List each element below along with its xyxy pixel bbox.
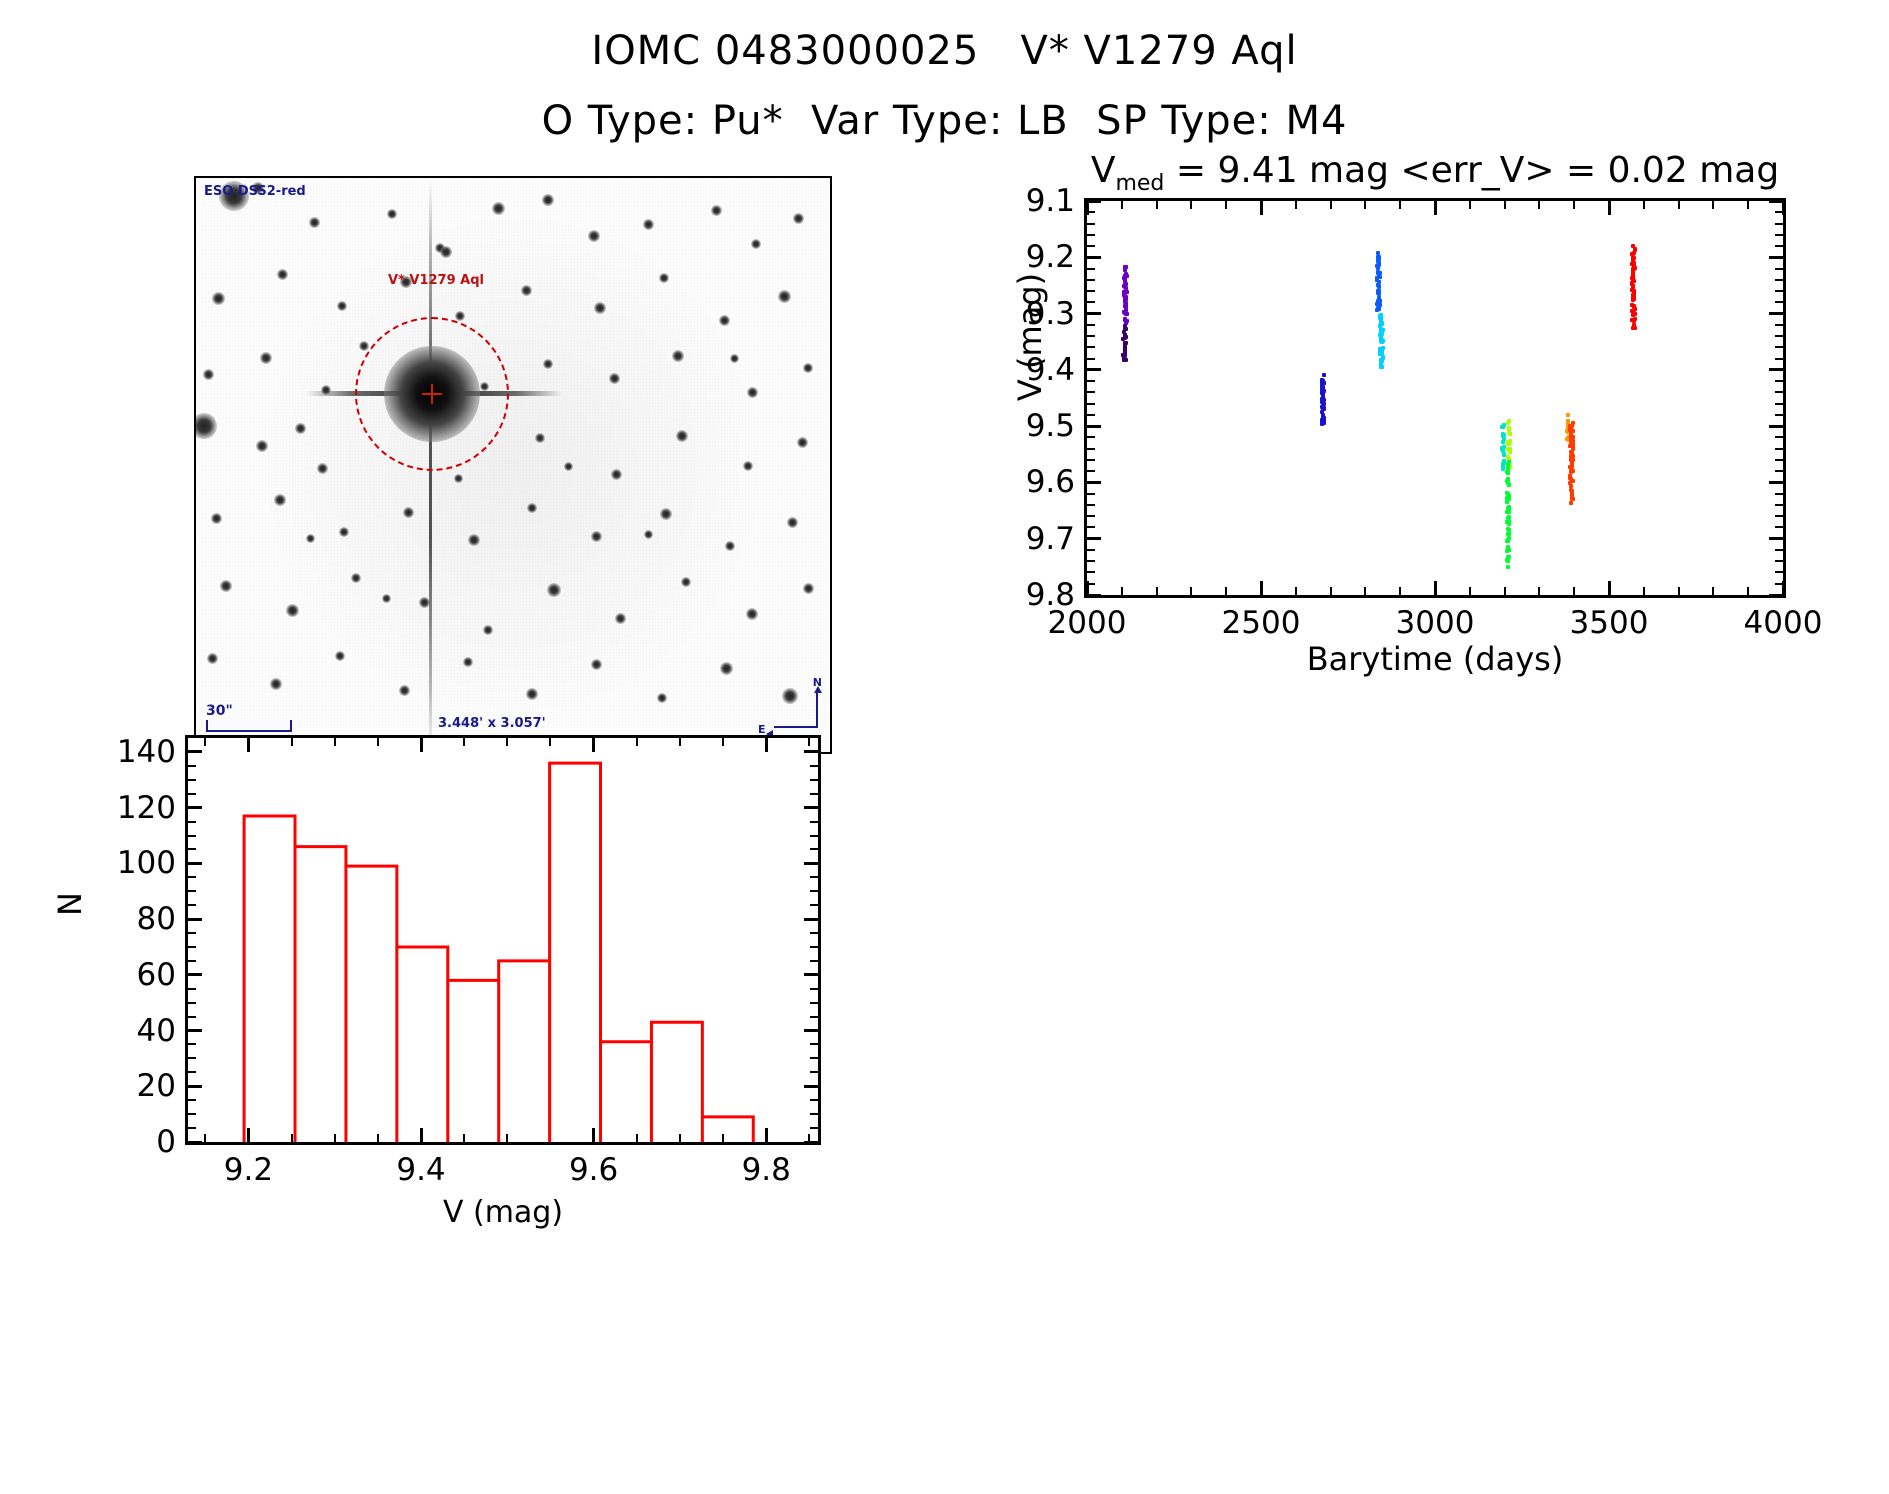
- lightcurve-x-tick-minor-top: [1434, 201, 1436, 209]
- lightcurve-y-tick-minor: [1087, 380, 1095, 382]
- field-star: [793, 213, 804, 224]
- field-star: [203, 369, 214, 380]
- lightcurve-data-point: [1506, 539, 1510, 543]
- field-star: [492, 202, 505, 215]
- field-star: [483, 625, 493, 635]
- field-star: [212, 292, 225, 305]
- lightcurve-y-tick-minor: [1087, 324, 1095, 326]
- field-star: [803, 363, 813, 373]
- lightcurve-x-tick-minor-top: [1678, 201, 1680, 209]
- lightcurve-data-point: [1378, 352, 1382, 356]
- lightcurve-y-tick-minor: [1087, 526, 1095, 528]
- lightcurve-data-point: [1506, 527, 1510, 531]
- lightcurve-x-tick-label: 2000: [1048, 605, 1127, 641]
- histogram-panel: 0204060801001201409.29.49.69.8 N V (mag): [40, 700, 860, 1490]
- lightcurve-x-tick-minor: [1190, 587, 1192, 595]
- lightcurve-x-tick-minor: [1608, 587, 1610, 595]
- field-star: [711, 205, 722, 216]
- lightcurve-x-tick-minor: [1469, 587, 1471, 595]
- lightcurve-data-point: [1501, 467, 1505, 471]
- field-star: [730, 354, 739, 363]
- lightcurve-y-tick-minor: [1087, 414, 1095, 416]
- lightcurve-data-point: [1506, 471, 1510, 475]
- lightcurve-y-tick-minor-right: [1775, 313, 1783, 315]
- field-star: [591, 531, 602, 542]
- lightcurve-data-point: [1505, 500, 1509, 504]
- histogram-x-tick-label: 9.4: [396, 1152, 445, 1188]
- lightcurve-y-tick-minor: [1087, 358, 1095, 360]
- lightcurve-data-point: [1631, 313, 1635, 317]
- lightcurve-y-tick-minor-right: [1775, 380, 1783, 382]
- field-star: [547, 583, 561, 597]
- lightcurve-data-point: [1631, 267, 1635, 271]
- lightcurve-y-tick-minor: [1087, 448, 1095, 450]
- lightcurve-x-tick-minor-top: [1643, 201, 1645, 209]
- lightcurve-data-point: [1507, 483, 1511, 487]
- lightcurve-y-tick-minor-right: [1775, 571, 1783, 573]
- lightcurve-x-tick-minor-top: [1156, 201, 1158, 209]
- lightcurve-y-tick-minor: [1087, 504, 1095, 506]
- lightcurve-y-tick-minor-right: [1775, 414, 1783, 416]
- lightcurve-x-tick-minor-top: [1538, 201, 1540, 209]
- lightcurve-x-tick-minor: [1538, 587, 1540, 595]
- sky-background-noise: [196, 178, 830, 752]
- lightcurve-x-tick-minor: [1573, 587, 1575, 595]
- field-star: [468, 534, 480, 546]
- lightcurve-y-tick-minor: [1087, 493, 1095, 495]
- lightcurve-y-tick-minor: [1087, 301, 1095, 303]
- lightcurve-y-tick-minor: [1087, 538, 1095, 540]
- lightcurve-y-tick-minor-right: [1775, 526, 1783, 528]
- field-star: [660, 508, 672, 520]
- field-star: [611, 469, 622, 480]
- histogram-x-tick-label: 9.2: [224, 1152, 273, 1188]
- lightcurve-y-tick-minor: [1087, 369, 1095, 371]
- field-star: [277, 269, 288, 280]
- field-star: [256, 440, 268, 452]
- lightcurve-y-tick-minor: [1087, 391, 1095, 393]
- field-star: [564, 462, 573, 471]
- lightcurve-x-tick-minor-top: [1225, 201, 1227, 209]
- histogram-x-axis-label: V (mag): [185, 1195, 821, 1230]
- field-star: [719, 315, 730, 326]
- vmed-symbol: V: [1091, 150, 1116, 191]
- field-star: [797, 437, 808, 448]
- lightcurve-data-point: [1322, 373, 1326, 377]
- lightcurve-data-point: [1570, 479, 1574, 483]
- lightcurve-data-point: [1507, 522, 1511, 526]
- lightcurve-data-point: [1320, 422, 1324, 426]
- lightcurve-x-tick-minor: [1156, 587, 1158, 595]
- histogram-plot-area: 0204060801001201409.29.49.69.8: [185, 735, 821, 1145]
- lightcurve-x-tick-minor-top: [1747, 201, 1749, 209]
- lightcurve-x-axis-label: Barytime (days): [1084, 640, 1786, 678]
- page-header: IOMC 0483000025 V* V1279 Aql O Type: Pu*…: [0, 0, 1889, 144]
- lightcurve-x-tick-minor-top: [1504, 201, 1506, 209]
- histogram-y-tick-label: 100: [117, 845, 176, 881]
- lightcurve-data-point: [1124, 312, 1128, 316]
- lightcurve-y-tick-minor-right: [1775, 279, 1783, 281]
- lightcurve-data-point: [1508, 432, 1512, 436]
- lightcurve-y-tick-minor: [1087, 481, 1095, 483]
- field-star: [337, 301, 347, 311]
- lightcurve-x-tick-label: 3000: [1396, 605, 1475, 641]
- lightcurve-x-tick-label: 2500: [1222, 605, 1301, 641]
- lightcurve-y-tick-minor: [1087, 346, 1095, 348]
- field-star: [399, 685, 410, 696]
- histogram-y-tick-label: 20: [137, 1068, 176, 1104]
- lightcurve-y-tick-label: 9.7: [1026, 521, 1075, 557]
- lightcurve-y-tick-minor-right: [1775, 436, 1783, 438]
- histogram-y-tick-label: 120: [117, 790, 176, 826]
- vmed-values: = 9.41 mag <err_V> = 0.02 mag: [1164, 150, 1779, 191]
- histogram-x-tick-label: 9.8: [742, 1152, 791, 1188]
- lightcurve-y-tick-minor: [1087, 425, 1095, 427]
- lightcurve-y-tick-minor: [1087, 470, 1095, 472]
- lightcurve-x-tick-minor: [1643, 587, 1645, 595]
- lightcurve-data-point: [1380, 365, 1384, 369]
- field-star: [274, 494, 286, 506]
- lightcurve-y-tick-minor-right: [1775, 515, 1783, 517]
- lightcurve-x-tick-minor: [1330, 587, 1332, 595]
- lightcurve-data-point: [1507, 442, 1511, 446]
- field-star: [317, 463, 328, 474]
- field-star: [676, 430, 688, 442]
- lightcurve-y-tick-minor-right: [1775, 223, 1783, 225]
- lightcurve-x-tick-minor: [1782, 587, 1784, 595]
- lightcurve-y-tick-minor-right: [1775, 425, 1783, 427]
- page-subtitle-types: O Type: Pu* Var Type: LB SP Type: M4: [0, 98, 1889, 144]
- lightcurve-data-point: [1507, 510, 1511, 514]
- lightcurve-y-tick-minor-right: [1775, 493, 1783, 495]
- page-title: IOMC 0483000025 V* V1279 Aql: [0, 28, 1889, 74]
- sky-image-frame: ESO DSS2-red V* V1279 Aql 30" 3.448' x 3…: [194, 176, 832, 754]
- lightcurve-x-tick-minor-top: [1330, 201, 1332, 209]
- survey-label: ESO DSS2-red: [204, 184, 306, 199]
- lightcurve-x-tick-minor-top: [1782, 201, 1784, 209]
- lightcurve-y-tick-minor: [1087, 403, 1095, 405]
- field-star: [339, 527, 349, 537]
- field-star: [803, 583, 814, 594]
- lightcurve-data-point: [1122, 290, 1126, 294]
- field-star: [220, 580, 232, 592]
- field-star: [720, 662, 733, 675]
- lightcurve-y-tick-minor-right: [1775, 549, 1783, 551]
- lightcurve-y-tick-minor-right: [1775, 504, 1783, 506]
- field-star: [270, 678, 282, 690]
- lightcurve-x-tick-minor-top: [1295, 201, 1297, 209]
- lightcurve-data-point: [1506, 565, 1510, 569]
- field-star: [260, 352, 272, 364]
- lightcurve-x-tick-minor: [1260, 587, 1262, 595]
- lightcurve-data-point: [1376, 291, 1380, 295]
- lightcurve-data-point: [1571, 469, 1575, 473]
- lightcurve-y-tick-minor-right: [1775, 459, 1783, 461]
- lightcurve-x-tick-minor-top: [1190, 201, 1192, 209]
- lightcurve-y-tick-minor-right: [1775, 245, 1783, 247]
- lightcurve-x-tick-minor-top: [1260, 201, 1262, 209]
- lightcurve-y-tick-minor: [1087, 560, 1095, 562]
- field-star: [382, 594, 391, 603]
- field-star: [387, 209, 397, 219]
- lightcurve-y-tick-minor: [1087, 571, 1095, 573]
- field-star: [743, 461, 753, 471]
- lightcurve-x-tick-minor: [1225, 587, 1227, 595]
- field-star: [419, 597, 430, 608]
- lightcurve-x-tick-minor-top: [1712, 201, 1714, 209]
- vmed-subscript: med: [1115, 171, 1164, 196]
- lightcurve-x-tick-minor-top: [1608, 201, 1610, 209]
- target-crosshair-vertical: [431, 384, 433, 404]
- lightcurve-y-tick-minor-right: [1775, 538, 1783, 540]
- lightcurve-data-point: [1506, 532, 1510, 536]
- lightcurve-data-point: [1566, 413, 1570, 417]
- field-star: [594, 302, 606, 314]
- field-star: [440, 246, 452, 258]
- field-star: [306, 534, 315, 543]
- lightcurve-y-tick-minor: [1087, 290, 1095, 292]
- field-star: [309, 217, 320, 228]
- lightcurve-x-tick-minor-top: [1121, 201, 1123, 209]
- field-star: [591, 659, 602, 670]
- lightcurve-x-tick-minor: [1434, 587, 1436, 595]
- lightcurve-x-tick-label: 4000: [1744, 605, 1823, 641]
- lightcurve-subtitle: Vmed = 9.41 mag <err_V> = 0.02 mag: [1000, 150, 1870, 196]
- lightcurve-y-tick-minor-right: [1775, 481, 1783, 483]
- lightcurve-x-tick-minor-top: [1469, 201, 1471, 209]
- lightcurve-y-tick-minor: [1087, 223, 1095, 225]
- sky-image-panel: ESO DSS2-red V* V1279 Aql 30" 3.448' x 3…: [194, 176, 834, 756]
- field-star: [403, 507, 414, 518]
- lightcurve-x-tick-minor-top: [1364, 201, 1366, 209]
- lightcurve-x-tick-minor: [1747, 587, 1749, 595]
- field-star: [659, 273, 669, 283]
- lightcurve-x-tick-minor: [1364, 587, 1366, 595]
- lightcurve-y-tick-minor-right: [1775, 290, 1783, 292]
- lightcurve-y-tick-minor: [1087, 279, 1095, 281]
- lightcurve-data-point: [1632, 256, 1636, 260]
- lightcurve-x-tick-minor: [1295, 587, 1297, 595]
- lightcurve-x-tick-minor: [1712, 587, 1714, 595]
- lightcurve-y-tick-minor-right: [1775, 346, 1783, 348]
- field-star: [455, 311, 465, 321]
- target-star-label: V* V1279 Aql: [388, 273, 484, 288]
- histogram-y-tick-label: 80: [137, 901, 176, 937]
- lightcurve-y-tick-minor: [1087, 268, 1095, 270]
- lightcurve-x-tick-minor: [1399, 587, 1401, 595]
- lightcurve-y-tick-minor-right: [1775, 268, 1783, 270]
- lightcurve-data-point: [1322, 407, 1326, 411]
- field-star: [521, 285, 532, 296]
- lightcurve-y-tick-minor-right: [1775, 470, 1783, 472]
- lightcurve-x-tick-label: 3500: [1570, 605, 1649, 641]
- lightcurve-data-point: [1507, 548, 1511, 552]
- field-star: [335, 651, 345, 661]
- lightcurve-y-tick-minor: [1087, 436, 1095, 438]
- compass-north-label: N: [813, 676, 822, 689]
- field-star: [211, 513, 222, 524]
- lightcurve-data-point: [1506, 559, 1510, 563]
- lightcurve-data-point: [1508, 450, 1512, 454]
- lightcurve-data-point: [1501, 440, 1505, 444]
- field-star: [787, 517, 798, 528]
- lightcurve-y-axis-label: V (mag): [1011, 237, 1049, 437]
- lightcurve-y-tick-minor: [1087, 515, 1095, 517]
- field-star: [207, 653, 218, 664]
- lightcurve-data-point: [1507, 497, 1511, 501]
- field-star: [588, 230, 600, 242]
- field-star: [725, 541, 735, 551]
- lightcurve-y-tick-minor: [1087, 245, 1095, 247]
- lightcurve-y-tick-minor-right: [1775, 256, 1783, 258]
- lightcurve-x-tick-minor-top: [1573, 201, 1575, 209]
- field-star: [526, 688, 538, 700]
- lightcurve-data-point: [1380, 340, 1384, 344]
- field-star: [643, 219, 654, 230]
- lightcurve-data-point: [1124, 319, 1128, 323]
- lightcurve-y-tick-minor-right: [1775, 324, 1783, 326]
- lightcurve-data-point: [1123, 336, 1127, 340]
- lightcurve-data-point: [1501, 425, 1505, 429]
- lightcurve-plot-area: 9.19.29.39.49.59.69.79.82000250030003500…: [1084, 198, 1786, 598]
- lightcurve-x-tick-minor: [1086, 587, 1088, 595]
- lightcurve-data-point: [1501, 462, 1505, 466]
- lightcurve-y-tick-minor-right: [1775, 560, 1783, 562]
- field-star: [463, 657, 473, 667]
- lightcurve-data-point: [1631, 298, 1635, 302]
- lightcurve-data-point: [1632, 323, 1636, 327]
- lightcurve-y-tick-minor: [1087, 313, 1095, 315]
- lightcurve-y-tick-minor: [1087, 234, 1095, 236]
- lightcurve-y-tick-minor-right: [1775, 335, 1783, 337]
- field-star: [681, 577, 691, 587]
- lightcurve-data-point: [1124, 358, 1128, 362]
- lightcurve-data-point: [1506, 421, 1510, 425]
- lightcurve-x-tick-minor: [1504, 587, 1506, 595]
- histogram-y-tick-label: 0: [156, 1124, 176, 1160]
- lightcurve-y-tick-minor-right: [1775, 358, 1783, 360]
- field-star: [295, 423, 306, 434]
- field-star: [535, 433, 545, 443]
- histogram-y-tick-label: 40: [137, 1013, 176, 1049]
- field-star: [746, 608, 758, 620]
- lightcurve-data-point: [1377, 306, 1381, 310]
- field-star: [543, 359, 553, 369]
- lightcurve-y-tick-minor: [1087, 335, 1095, 337]
- lightcurve-x-tick-minor: [1121, 587, 1123, 595]
- lightcurve-x-tick-minor-top: [1086, 201, 1088, 209]
- field-star: [747, 387, 758, 398]
- field-star: [615, 613, 626, 624]
- lightcurve-x-tick-minor: [1678, 587, 1680, 595]
- histogram-y-tick-label: 140: [117, 734, 176, 770]
- histogram-y-axis-label: N: [51, 824, 89, 984]
- lightcurve-y-tick-minor-right: [1775, 403, 1783, 405]
- lightcurve-data-point: [1569, 501, 1573, 505]
- field-star: [286, 604, 299, 617]
- field-star: [672, 350, 684, 362]
- field-star: [542, 194, 554, 206]
- lightcurve-data-point: [1631, 279, 1635, 283]
- lightcurve-y-tick-label: 9.6: [1026, 464, 1075, 500]
- lightcurve-y-tick-minor-right: [1775, 391, 1783, 393]
- lightcurve-y-tick-label: 9.1: [1026, 183, 1075, 219]
- histogram-bars: [188, 738, 818, 1142]
- lightcurve-x-tick-minor-top: [1399, 201, 1401, 209]
- histogram-y-tick-label: 60: [137, 957, 176, 993]
- field-star: [609, 373, 620, 384]
- lightcurve-y-tick-minor-right: [1775, 301, 1783, 303]
- histogram-x-tick-label: 9.6: [569, 1152, 618, 1188]
- lightcurve-y-tick-minor-right: [1775, 369, 1783, 371]
- field-star: [527, 503, 537, 513]
- field-star: [644, 530, 653, 539]
- lightcurve-y-tick-minor: [1087, 549, 1095, 551]
- lightcurve-y-tick-minor-right: [1775, 234, 1783, 236]
- field-star: [751, 239, 761, 249]
- lightcurve-panel: Vmed = 9.41 mag <err_V> = 0.02 mag 9.19.…: [1000, 150, 1870, 690]
- lightcurve-y-tick-minor: [1087, 256, 1095, 258]
- field-star: [778, 290, 791, 303]
- lightcurve-y-tick-minor-right: [1775, 448, 1783, 450]
- lightcurve-y-tick-minor: [1087, 459, 1095, 461]
- field-star: [351, 573, 361, 583]
- field-star: [454, 474, 463, 483]
